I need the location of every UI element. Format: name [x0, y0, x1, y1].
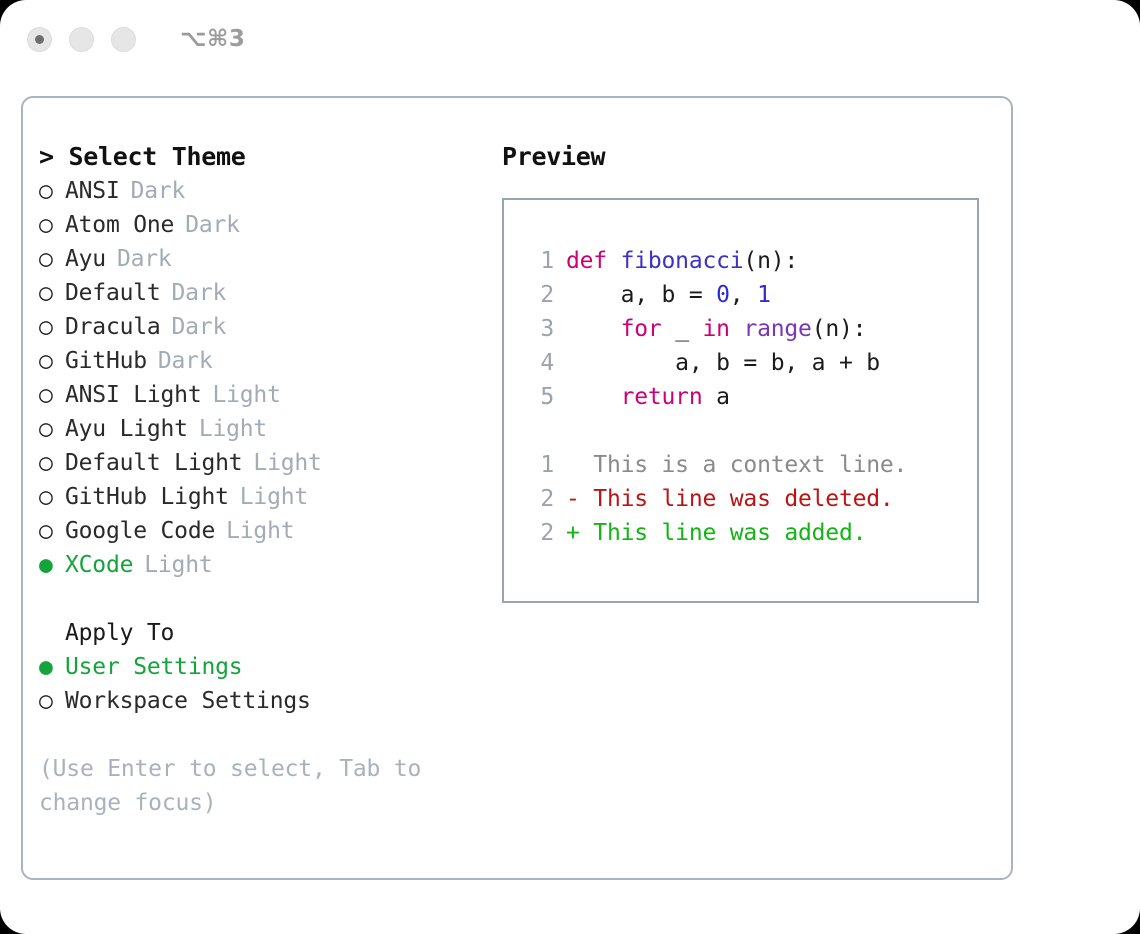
apply-to-option[interactable]: ○Workspace Settings	[39, 684, 499, 718]
diff-line: 2- This line was deleted.	[524, 482, 977, 516]
theme-list-item[interactable]: ○Default LightLight	[39, 446, 499, 480]
code-token: a	[702, 384, 729, 410]
diff-sign	[566, 448, 580, 482]
apply-to-option-label: User Settings	[65, 650, 242, 684]
code-token: (n):	[812, 316, 867, 342]
diff-line-number: 2	[524, 482, 554, 516]
theme-variant-label: Dark	[131, 174, 186, 208]
theme-picker-panel: > Select Theme ○ANSIDark○Atom OneDark○Ay…	[21, 96, 1013, 880]
preview-header: Preview	[502, 140, 992, 174]
code-token: ,	[730, 282, 757, 308]
window-dot-active-inner	[35, 35, 44, 44]
theme-list-item[interactable]: ○DefaultDark	[39, 276, 499, 310]
code-token: a, b = b, a + b	[566, 350, 880, 376]
code-token: in	[703, 316, 730, 342]
window-dot-second-icon[interactable]	[69, 27, 94, 52]
radio-unselected-icon[interactable]: ○	[39, 310, 65, 344]
code-line-text: a, b = 0, 1	[566, 278, 771, 312]
code-token: a, b =	[566, 282, 716, 308]
apply-to-option-label: Workspace Settings	[65, 684, 311, 718]
code-token: (n):	[743, 248, 798, 274]
code-line: 1def fibonacci(n):	[524, 244, 977, 278]
theme-name: Ayu Light	[65, 412, 188, 446]
code-line-number: 4	[524, 346, 554, 380]
radio-selected-icon[interactable]: ●	[39, 548, 65, 582]
theme-name: Default Light	[65, 446, 242, 480]
select-theme-header: > Select Theme	[39, 140, 499, 174]
diff-line: 1 This is a context line.	[524, 448, 977, 482]
theme-list-item[interactable]: ○AyuDark	[39, 242, 499, 276]
theme-variant-label: Light	[212, 378, 280, 412]
radio-unselected-icon[interactable]: ○	[39, 242, 65, 276]
preview-box: 1def fibonacci(n):2 a, b = 0, 13 for _ i…	[502, 198, 979, 603]
radio-unselected-icon[interactable]: ○	[39, 378, 65, 412]
theme-name: Dracula	[65, 310, 161, 344]
code-line-text: a, b = b, a + b	[566, 346, 880, 380]
keyboard-shortcut-label: ⌥⌘3	[180, 26, 245, 52]
code-line: 5 return a	[524, 380, 977, 414]
theme-list-item[interactable]: ○DraculaDark	[39, 310, 499, 344]
theme-list-item[interactable]: ○GitHubDark	[39, 344, 499, 378]
theme-name: ANSI Light	[65, 378, 201, 412]
code-token: 1	[757, 282, 771, 308]
diff-sign: -	[566, 482, 580, 516]
code-token	[730, 316, 744, 342]
code-line: 2 a, b = 0, 1	[524, 278, 977, 312]
radio-unselected-icon[interactable]: ○	[39, 276, 65, 310]
theme-variant-label: Light	[226, 514, 294, 548]
radio-unselected-icon[interactable]: ○	[39, 174, 65, 208]
theme-list-item[interactable]: ○GitHub LightLight	[39, 480, 499, 514]
diff-sample: 1 This is a context line.2- This line wa…	[524, 448, 977, 550]
radio-unselected-icon[interactable]: ○	[39, 514, 65, 548]
theme-variant-label: Dark	[172, 310, 227, 344]
theme-variant-label: Light	[144, 548, 212, 582]
diff-line-number: 2	[524, 516, 554, 550]
theme-list[interactable]: ○ANSIDark○Atom OneDark○AyuDark○DefaultDa…	[39, 174, 499, 582]
theme-name: Ayu	[65, 242, 106, 276]
code-token: _	[662, 316, 703, 342]
window-controls	[27, 27, 136, 52]
code-token: fibonacci	[621, 248, 744, 274]
code-line-text: for _ in range(n):	[566, 312, 866, 346]
window-dot-third-icon[interactable]	[111, 27, 136, 52]
theme-name: GitHub Light	[65, 480, 229, 514]
keyboard-hint-text: (Use Enter to select, Tab to change focu…	[39, 752, 449, 820]
theme-list-item[interactable]: ○ANSI LightLight	[39, 378, 499, 412]
code-token: return	[621, 384, 703, 410]
theme-name: ANSI	[65, 174, 120, 208]
code-token: 0	[716, 282, 730, 308]
code-line-number: 5	[524, 380, 554, 414]
theme-name: XCode	[65, 548, 133, 582]
theme-variant-label: Light	[240, 480, 308, 514]
radio-unselected-icon[interactable]: ○	[39, 480, 65, 514]
theme-variant-label: Dark	[185, 208, 240, 242]
preview-column: Preview 1def fibonacci(n):2 a, b = 0, 13…	[502, 140, 992, 603]
app-window: ⌥⌘3 > Select Theme ○ANSIDark○Atom OneDar…	[0, 0, 1140, 934]
code-token	[566, 384, 621, 410]
theme-name: Atom One	[65, 208, 174, 242]
code-token: def	[566, 248, 621, 274]
theme-variant-label: Dark	[158, 344, 213, 378]
apply-to-option[interactable]: ●User Settings	[39, 650, 499, 684]
theme-variant-label: Dark	[117, 242, 172, 276]
diff-line-text: This line was deleted.	[580, 482, 894, 516]
list-spacer	[39, 582, 499, 616]
diff-line: 2+ This line was added.	[524, 516, 977, 550]
code-line-text: def fibonacci(n):	[566, 244, 798, 278]
code-sample: 1def fibonacci(n):2 a, b = 0, 13 for _ i…	[524, 244, 977, 414]
code-line-number: 2	[524, 278, 554, 312]
title-bar: ⌥⌘3	[0, 0, 1140, 78]
apply-to-header: Apply To	[39, 616, 499, 650]
code-line-number: 3	[524, 312, 554, 346]
theme-selection-column: > Select Theme ○ANSIDark○Atom OneDark○Ay…	[39, 140, 499, 820]
theme-name: Google Code	[65, 514, 215, 548]
diff-line-text: This is a context line.	[580, 448, 908, 482]
radio-unselected-icon[interactable]: ○	[39, 446, 65, 480]
code-token: for	[621, 316, 662, 342]
theme-variant-label: Dark	[172, 276, 227, 310]
diff-line-text: This line was added.	[580, 516, 867, 550]
radio-unselected-icon[interactable]: ○	[39, 344, 65, 378]
diff-line-number: 1	[524, 448, 554, 482]
window-dot-active-icon[interactable]	[27, 27, 52, 52]
code-line: 4 a, b = b, a + b	[524, 346, 977, 380]
theme-list-item[interactable]: ○ANSIDark	[39, 174, 499, 208]
radio-unselected-icon[interactable]: ○	[39, 412, 65, 446]
radio-unselected-icon[interactable]: ○	[39, 684, 65, 718]
diff-sign: +	[566, 516, 580, 550]
theme-list-item[interactable]: ○Ayu LightLight	[39, 412, 499, 446]
theme-name: GitHub	[65, 344, 147, 378]
theme-name: Default	[65, 276, 161, 310]
radio-selected-icon[interactable]: ●	[39, 650, 65, 684]
code-diff-separator	[524, 414, 977, 448]
apply-to-list[interactable]: ●User Settings○Workspace Settings	[39, 650, 499, 718]
theme-list-item[interactable]: ○Atom OneDark	[39, 208, 499, 242]
theme-variant-label: Light	[253, 446, 321, 480]
theme-list-item[interactable]: ●XCodeLight	[39, 548, 499, 582]
code-line-number: 1	[524, 244, 554, 278]
theme-list-item[interactable]: ○Google CodeLight	[39, 514, 499, 548]
code-token	[566, 316, 621, 342]
code-token: range	[743, 316, 811, 342]
theme-variant-label: Light	[199, 412, 267, 446]
radio-unselected-icon[interactable]: ○	[39, 208, 65, 242]
code-line: 3 for _ in range(n):	[524, 312, 977, 346]
code-line-text: return a	[566, 380, 730, 414]
